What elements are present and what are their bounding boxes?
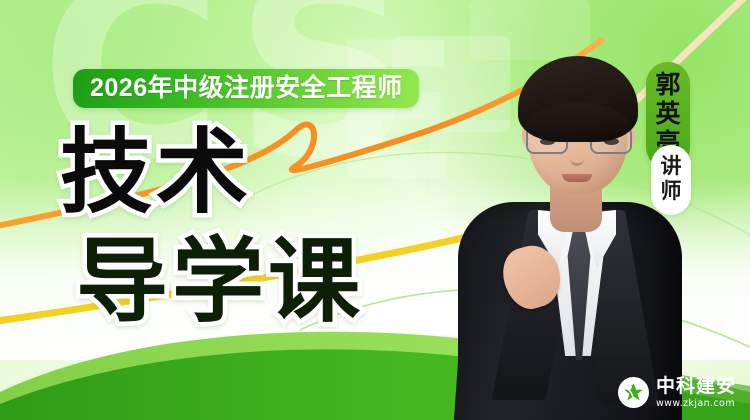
hair	[518, 56, 638, 142]
mouth	[562, 174, 592, 182]
headline-line-1: 技术	[60, 128, 390, 219]
subtitle-banner: 2026年中级注册安全工程师	[73, 69, 419, 108]
headline-line-2: 导学课	[76, 237, 390, 328]
page-title: 技术 导学课	[60, 128, 390, 328]
course-cover-banner: CS E	[0, 0, 750, 420]
brand-text: 中科建安 www.zkjan.com	[656, 377, 736, 409]
zkjan-circle-logo-icon	[618, 377, 649, 408]
instructor-role-badge: 讲 师	[651, 145, 691, 215]
instructor-name-char-1: 英	[655, 101, 680, 128]
instructor-name-char-0: 郭	[655, 72, 680, 99]
brand-name: 中科建安	[656, 377, 736, 396]
instructor-role-char-1: 师	[661, 180, 682, 204]
brand-url: www.zkjan.com	[656, 399, 736, 409]
subtitle-banner-text: 2026年中级注册安全工程师	[90, 76, 403, 101]
brand-lockup: 中科建安 www.zkjan.com	[618, 377, 736, 409]
instructor-role-char-0: 讲	[661, 155, 682, 179]
